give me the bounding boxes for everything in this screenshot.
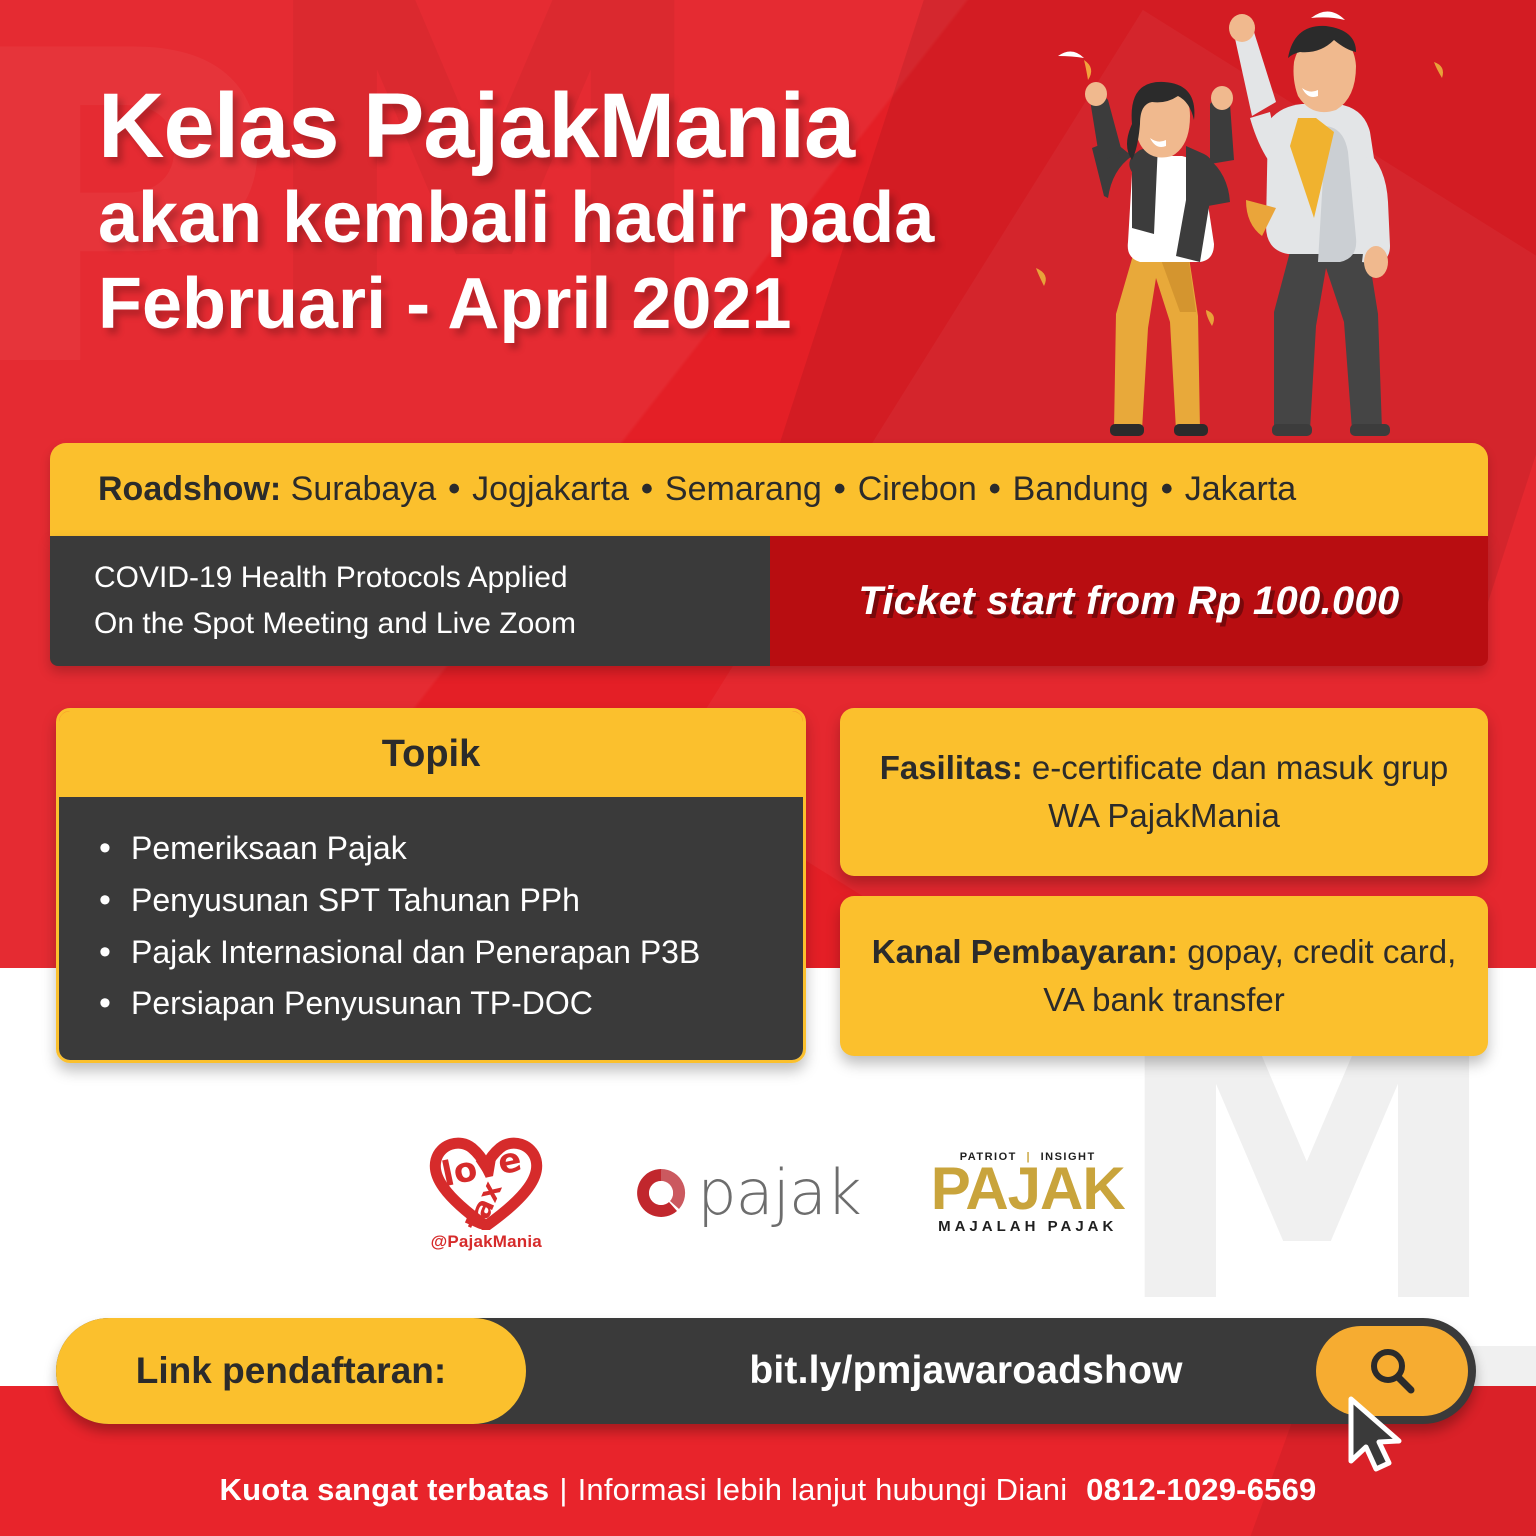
man-figure xyxy=(1229,14,1390,436)
roadshow-cities: Surabaya•Jogjakarta•Semarang•Cirebon•Ban… xyxy=(291,470,1297,508)
topik-card: Topik Pemeriksaan PajakPenyusunan SPT Ta… xyxy=(56,708,806,1063)
city-separator: • xyxy=(436,470,472,508)
headline-line-1: Kelas PajakMania xyxy=(98,78,1098,175)
footer-info: Informasi lebih lanjut hubungi Diani xyxy=(578,1472,1068,1507)
pajakmania-handle: @PajakMania xyxy=(411,1232,561,1252)
search-icon xyxy=(1364,1343,1420,1399)
headline-line-3: Februari - April 2021 xyxy=(98,262,1098,347)
footer-phone[interactable]: 0812-1029-6569 xyxy=(1076,1472,1316,1507)
mouse-cursor-icon xyxy=(1345,1395,1407,1473)
health-protocol-panel: COVID-19 Health Protocols Applied On the… xyxy=(50,536,770,666)
city-separator: • xyxy=(629,470,665,508)
headline-line-2: akan kembali hadir pada xyxy=(98,175,1098,263)
footer-contact: Kuota sangat terbatas|Informasi lebih la… xyxy=(0,1472,1536,1508)
fasilitas-label: Fasilitas: xyxy=(880,749,1023,786)
roadshow-label: Roadshow: xyxy=(98,470,281,508)
majalah-main-word: PAJAK xyxy=(931,1161,1125,1216)
registration-link-bar[interactable]: Link pendaftaran: bit.ly/pmjawaroadshow xyxy=(56,1318,1476,1424)
majalah-sub-word: MAJALAH PAJAK xyxy=(931,1218,1125,1235)
city-separator: • xyxy=(1149,470,1185,508)
topik-list: Pemeriksaan PajakPenyusunan SPT Tahunan … xyxy=(93,823,769,1030)
ticket-price-text: Ticket start from Rp 100.000 xyxy=(858,579,1399,624)
roadshow-city: Surabaya xyxy=(291,470,437,508)
illustration-svg xyxy=(1036,0,1506,450)
kanal-text: Kanal Pembayaran: gopay, credit card, VA… xyxy=(866,928,1462,1024)
topik-item: Pemeriksaan Pajak xyxy=(93,823,769,875)
info-row: COVID-19 Health Protocols Applied On the… xyxy=(50,536,1488,666)
footer-divider: | xyxy=(549,1472,577,1507)
fasilitas-card: Fasilitas: e-certificate dan masuk grup … xyxy=(840,708,1488,876)
pajak-circle-icon xyxy=(631,1163,691,1223)
fasilitas-value: e-certificate dan masuk grup WA PajakMan… xyxy=(1023,749,1449,834)
roadshow-city: Jogjakarta xyxy=(472,470,629,508)
woman-figure xyxy=(1085,82,1234,436)
pajak-logo: pajak xyxy=(631,1162,860,1224)
kanal-pembayaran-card: Kanal Pembayaran: gopay, credit card, VA… xyxy=(840,896,1488,1056)
headline-block: Kelas PajakMania akan kembali hadir pada… xyxy=(98,78,1098,347)
roadshow-city: Jakarta xyxy=(1185,470,1297,508)
ticket-price-panel: Ticket start from Rp 100.000 xyxy=(770,536,1488,666)
topik-item: Penyusunan SPT Tahunan PPh xyxy=(93,875,769,927)
majalah-pajak-logo: PATRIOT | INSIGHT PAJAK MAJALAH PAJAK xyxy=(931,1151,1125,1235)
topik-item: Persiapan Penyusunan TP-DOC xyxy=(93,978,769,1030)
fasilitas-text: Fasilitas: e-certificate dan masuk grup … xyxy=(866,744,1462,840)
roadshow-city: Bandung xyxy=(1013,470,1149,508)
link-label: Link pendaftaran: xyxy=(136,1350,446,1392)
footer-quota: Kuota sangat terbatas xyxy=(220,1472,550,1507)
pajakmania-logo: love tax @PajakMania xyxy=(411,1134,561,1252)
protocol-line-1: COVID-19 Health Protocols Applied xyxy=(94,555,770,601)
protocol-line-2: On the Spot Meeting and Live Zoom xyxy=(94,601,770,647)
roadshow-city: Cirebon xyxy=(858,470,977,508)
topik-title: Topik xyxy=(59,711,803,797)
city-separator: • xyxy=(822,470,858,508)
celebrating-people-illustration xyxy=(1036,0,1506,450)
poster-canvas: P M M Kelas PajakMania akan kembali hadi… xyxy=(0,0,1536,1536)
roadshow-banner: Roadshow: Surabaya•Jogjakarta•Semarang•C… xyxy=(50,443,1488,536)
kanal-label: Kanal Pembayaran: xyxy=(872,933,1178,970)
love-tax-heart-icon: love tax xyxy=(426,1134,546,1230)
roadshow-text: Roadshow: Surabaya•Jogjakarta•Semarang•C… xyxy=(50,470,1296,509)
roadshow-city: Semarang xyxy=(665,470,822,508)
logo-row: love tax @PajakMania pajak PATRIOT | INS… xyxy=(0,1118,1536,1268)
city-separator: • xyxy=(977,470,1013,508)
topik-item: Pajak Internasional dan Penerapan P3B xyxy=(93,927,769,979)
pajak-wordmark: pajak xyxy=(697,1162,860,1224)
link-label-pill: Link pendaftaran: xyxy=(56,1318,526,1424)
topik-body: Pemeriksaan PajakPenyusunan SPT Tahunan … xyxy=(59,797,803,1060)
